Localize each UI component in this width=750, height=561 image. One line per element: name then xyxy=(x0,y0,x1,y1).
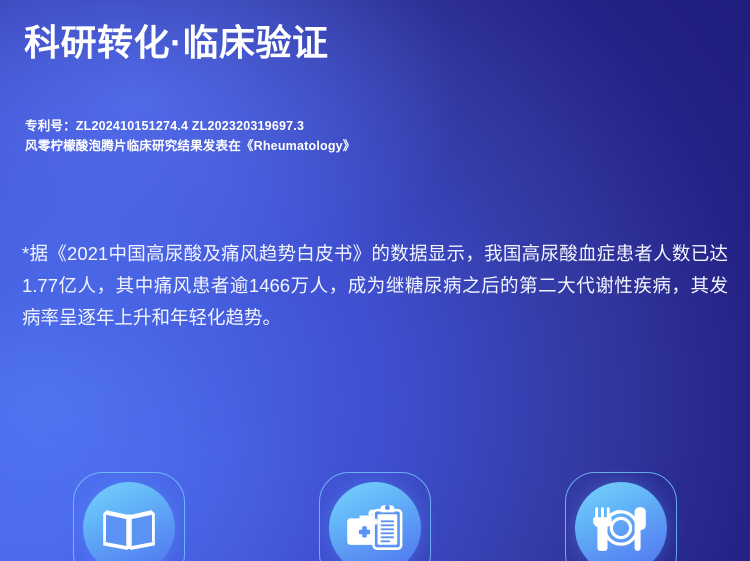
icon-frame xyxy=(73,472,185,561)
icon-frame xyxy=(565,472,677,561)
icon-circle xyxy=(575,482,667,561)
feature-card: 严苛临床 无忧护航 xyxy=(300,472,450,561)
feature-card-list: 专利加持 创新研发 xyxy=(0,472,750,561)
feature-card: 专利加持 创新研发 xyxy=(54,472,204,561)
statistics-paragraph: *据《2021中国高尿酸及痛风趋势白皮书》的数据显示，我国高尿酸血症患者人数已达… xyxy=(22,238,728,333)
open-book-icon xyxy=(102,505,156,551)
page-title: 科研转化·临床验证 xyxy=(24,22,750,63)
promo-poster: 科研转化·临床验证 专利号：ZL202410151274.4 ZL2023203… xyxy=(0,0,750,561)
icon-circle xyxy=(83,482,175,561)
patent-number-line: 专利号：ZL202410151274.4 ZL202320319697.3 xyxy=(25,117,750,136)
medical-bag-clipboard-icon xyxy=(346,502,404,554)
patent-info-block: 专利号：ZL202410151274.4 ZL202320319697.3 风零… xyxy=(25,117,750,156)
feature-card: 食养控酸 无惧大餐 xyxy=(546,472,696,561)
plate-fork-knife-icon xyxy=(592,504,650,552)
publication-line: 风零柠檬酸泡腾片临床研究结果发表在《Rheumatology》 xyxy=(25,137,750,156)
icon-frame xyxy=(319,472,431,561)
icon-circle xyxy=(329,482,421,561)
